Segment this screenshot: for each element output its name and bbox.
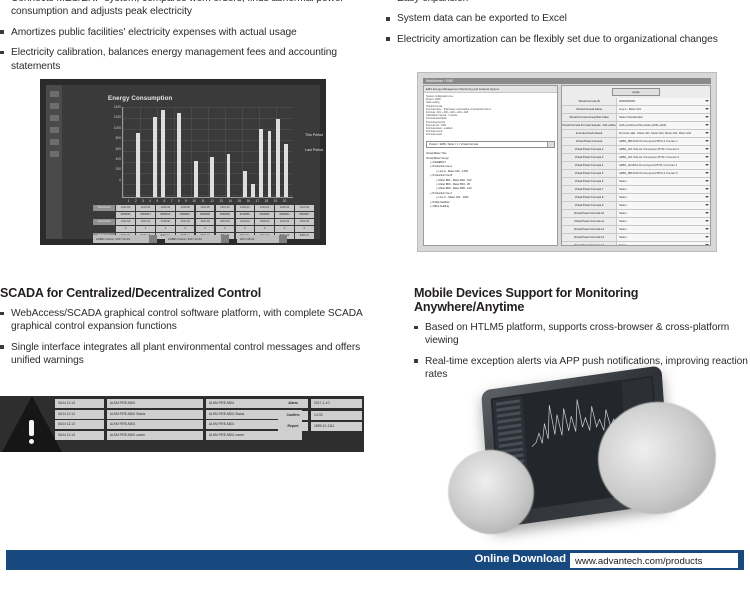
- chevron-down-icon[interactable]: [149, 235, 157, 243]
- list-item: Amortizes public facilities' electricity…: [0, 26, 375, 39]
- table-cell: 8888826: [156, 212, 174, 218]
- status-badge: Report: [278, 422, 308, 431]
- form-label: Virtual Formula Formula Sample : A01+A02…: [562, 122, 617, 129]
- scada-alarm-screenshot: 04/14 12:13ALKM FIRE AB01ALKM FIRE AB010…: [0, 396, 364, 452]
- chart-bar: [210, 157, 214, 197]
- table-cell: 1215.00: [216, 205, 234, 211]
- chevron-down-icon[interactable]: [705, 108, 709, 110]
- chevron-down-icon[interactable]: [705, 244, 709, 246]
- config-subbar: EMS Energy Management Monitoring and Ana…: [424, 86, 557, 93]
- form-label: Virtual Power Formula: [562, 138, 617, 145]
- status-row: Alarm2017-1-10: [278, 399, 362, 408]
- form-value[interactable]: AMB1_MB 0100-04 Compound BT/0-4 Counter …: [617, 138, 710, 145]
- bullet-text: Easy expansion: [397, 0, 468, 4]
- bullet-text: Electricity calibration, balances energy…: [11, 47, 337, 71]
- table-cell: 04/14 12:13: [55, 410, 104, 419]
- form-value[interactable]: (A01)+(A02)+(A03)+(A04)+(A05)+(A06): [617, 122, 710, 129]
- table-cell: ALKM FIRE AB01 Status: [107, 410, 203, 419]
- x-tick: 3: [139, 199, 146, 203]
- table-cell: 1218.00: [176, 205, 194, 211]
- form-value[interactable]: Select: [617, 178, 710, 185]
- form-row: Virtual Power Formula 6Select: [562, 178, 710, 186]
- form-label: Virtual Power Formula 6: [562, 178, 617, 185]
- table-cell: 0: [196, 226, 214, 232]
- config-left-panel: EMS Energy Management Monitoring and Ana…: [423, 85, 558, 246]
- y-tick: 1200: [106, 115, 121, 125]
- table-row-header: This Period: [93, 205, 115, 211]
- table-cell: 1212.00: [116, 205, 134, 211]
- table-cell: 1236.00: [236, 205, 254, 211]
- status-row: Report1899-12-1111: [278, 422, 362, 431]
- table-cell: 0: [236, 226, 254, 232]
- chart-bar: [153, 117, 157, 197]
- table-cell: 1218.00: [275, 205, 293, 211]
- apply-button[interactable]: Apply: [612, 88, 660, 96]
- form-value[interactable]: Formula valid - Meter A01, Meter A02, Me…: [617, 130, 710, 137]
- chart-legend: This Period Last Period: [305, 132, 326, 162]
- list-item: System data can be exported to Excel: [386, 12, 750, 25]
- table-cell: 0: [295, 226, 313, 232]
- bullet-square-icon: [414, 326, 418, 330]
- form-row: Virtual Power Formula 9Select: [562, 202, 710, 210]
- table-cell: 1024.00: [236, 219, 254, 225]
- chart-bar: [251, 184, 255, 198]
- form-value[interactable]: Select Classification: [617, 114, 710, 121]
- table-cell: 8888884: [136, 212, 154, 218]
- bullet-square-icon: [386, 17, 390, 21]
- y-tick: 1000: [106, 126, 121, 136]
- form-value[interactable]: Line A - Meter A01: [617, 106, 710, 113]
- top-right-bullet-list: Easy expansion System data can be export…: [386, 0, 750, 46]
- chart-bar: [284, 144, 288, 197]
- table-row: 04/14 12:13ALKM FIRE AB01ALKM FIRE AB01: [55, 399, 305, 408]
- table-cell: 0: [275, 226, 293, 232]
- form-value[interactable]: Select: [617, 202, 710, 209]
- chart-bar: [259, 129, 263, 197]
- bullet-text: Single interface integrates all plant en…: [11, 342, 360, 366]
- bullet-text: Electricity amortization can be flexibly…: [397, 34, 718, 45]
- table-cell: 1012.10: [136, 219, 154, 225]
- table-cell: 0: [176, 226, 194, 232]
- chart-plot-area: [122, 107, 293, 198]
- config-titlebar: WebAccess + EMS: [423, 78, 711, 84]
- chart-bar: [136, 133, 140, 197]
- form-row: Virtual Formula Formula Sample : A01+A02…: [562, 122, 710, 130]
- chevron-down-icon[interactable]: [705, 236, 709, 238]
- alarm-table: 04/14 12:13ALKM FIRE AB01ALKM FIRE AB010…: [55, 399, 305, 441]
- x-tick: 1: [125, 199, 132, 203]
- mobile-heading: Mobile Devices Support for Monitoring An…: [414, 286, 750, 314]
- form-label: Virtual Power Formula 2: [562, 146, 617, 153]
- x-tick: 4: [147, 199, 154, 203]
- form-row: Virtual Formula Group/Sub-ClassSelect Cl…: [562, 114, 710, 122]
- form-row: Virtual Power Formula 4AMB1_LD/0016-04 C…: [562, 162, 710, 170]
- top-right-column: Easy expansion System data can be export…: [386, 0, 750, 53]
- table-cell: 0: [216, 226, 234, 232]
- form-label: Virtual Power Formula 3: [562, 154, 617, 161]
- status-value: 1899-12-1111: [311, 422, 362, 431]
- form-value[interactable]: AMB1_MB 0100-04 Compound BT/0-4 Counter …: [617, 170, 710, 177]
- selector-value: 2017-08-04: [240, 237, 254, 241]
- exclamation-dot-icon: [29, 439, 34, 444]
- x-tick: 20: [280, 199, 289, 203]
- date-selector[interactable]: 2017-08-04: [237, 235, 287, 243]
- sidebar-icon[interactable]: [50, 115, 59, 121]
- form-label: Formula Check Result: [562, 130, 617, 137]
- table-cell: 1018.00: [156, 219, 174, 225]
- form-value[interactable]: 00000000001: [617, 98, 710, 105]
- legend-entry: Last Period: [305, 147, 326, 153]
- table-cell: 4: [156, 226, 174, 232]
- sidebar-icon[interactable]: [50, 139, 59, 145]
- form-label: Virtual Power Formula 5: [562, 170, 617, 177]
- table-row: Last Period1012.001012.101018.001011.001…: [93, 219, 315, 225]
- ems-window-frame: Energy Consumption 1400 1200 1000 800 60…: [40, 79, 326, 245]
- form-value[interactable]: AMB1_A01 Sub-Air Compressor BT/0-4 Count…: [617, 154, 710, 161]
- form-label: Virtual Power Formula 13: [562, 234, 617, 241]
- chart-bars: [123, 107, 293, 197]
- bullet-text: Connects MES/ERP system, compares work o…: [11, 0, 344, 17]
- table-row-header: Last Period: [93, 219, 115, 225]
- table-cell: 8888880: [216, 212, 234, 218]
- form-label: Virtual Power Formula 4: [562, 162, 617, 169]
- download-url[interactable]: www.advantech.com/products: [570, 553, 738, 568]
- table-cell: 8888886: [196, 212, 214, 218]
- ems-energy-consumption-screenshot: Energy Consumption 1400 1200 1000 800 60…: [40, 79, 326, 245]
- chevron-down-icon[interactable]: [705, 204, 709, 206]
- form-row: Virtual Power Formula 3AMB1_A01 Sub-Air …: [562, 154, 710, 162]
- form-row: Formula Check ResultFormula valid - Mete…: [562, 130, 710, 138]
- form-row: Virtual Power Formula 11Select: [562, 218, 710, 226]
- form-row: Virtual Power Formula 12Select: [562, 226, 710, 234]
- form-row: Virtual Formula ID00000000001: [562, 98, 710, 106]
- x-tick: 2: [132, 199, 139, 203]
- form-row: Virtual Power Formula 7Select: [562, 186, 710, 194]
- status-badge: Alarm: [278, 399, 308, 408]
- chevron-down-icon[interactable]: [705, 148, 709, 150]
- table-cell: 1210.00: [295, 205, 313, 211]
- chart-title: Energy Consumption: [108, 95, 172, 102]
- y-tick: 800: [106, 136, 121, 146]
- table-row: This Period1212.001214.001246.001218.001…: [93, 205, 315, 211]
- table-cell: 8888880: [116, 212, 134, 218]
- list-item: Electricity amortization can be flexibly…: [386, 33, 750, 46]
- y-tick: 1400: [106, 105, 121, 115]
- table-cell: ALKM FIRE AB01 comm: [107, 431, 203, 440]
- chevron-down-icon[interactable]: [705, 164, 709, 166]
- legend-entry: This Period: [305, 132, 326, 138]
- x-tick: 13: [216, 199, 225, 203]
- y-tick: 0: [106, 178, 121, 188]
- bullet-square-icon: [0, 345, 4, 349]
- y-tick: 200: [106, 167, 121, 177]
- dropdown-value: Project = EMS / Node = 1 / Virtual Formu…: [429, 143, 478, 146]
- selector-value: AAB01 Factory 2017-01-04: [168, 237, 202, 241]
- list-item: Connects MES/ERP system, compares work o…: [0, 0, 375, 19]
- form-label: Virtual Power Formula 7: [562, 186, 617, 193]
- table-cell: 1012.00: [275, 219, 293, 225]
- sidebar-icon[interactable]: [50, 127, 59, 133]
- form-value[interactable]: AMB1_A01 Sub-Air Compressor BT/0-4 Count…: [617, 146, 710, 153]
- form-row: Virtual Power FormulaAMB1_MB 0100-04 Com…: [562, 138, 710, 146]
- chevron-down-icon[interactable]: [547, 142, 554, 148]
- exclamation-bar-icon: [29, 420, 34, 436]
- table-cell: 8888882: [275, 212, 293, 218]
- form-row: Virtual Power Formula 14Select: [562, 242, 710, 246]
- x-tick: 12: [207, 199, 216, 203]
- chart-bar: [276, 119, 280, 197]
- table-cell: 04/14 12:13: [55, 431, 104, 440]
- x-tick: 8: [175, 199, 182, 203]
- x-tick: 5: [154, 199, 161, 203]
- chevron-down-icon[interactable]: [705, 140, 709, 142]
- x-tick: 16: [244, 199, 253, 203]
- y-tick: 400: [106, 157, 121, 167]
- table-cell: 1210.00: [196, 205, 214, 211]
- log-line: Formula export: [426, 133, 555, 136]
- list-item: Easy expansion: [386, 0, 750, 5]
- form-value[interactable]: AMB1_LD/0016-04 Compound BT/0-4 Counter …: [617, 162, 710, 169]
- sidebar-icon[interactable]: [50, 151, 59, 157]
- table-cell: 1011.00: [176, 219, 194, 225]
- table-cell: 8888880: [255, 212, 273, 218]
- form-value[interactable]: Select: [617, 186, 710, 193]
- chevron-down-icon[interactable]: [705, 220, 709, 222]
- form-value[interactable]: Select: [617, 234, 710, 241]
- form-row: Virtual Power Formula 13Select: [562, 234, 710, 242]
- scada-section: SCADA for Centralized/Decentralized Cont…: [0, 286, 375, 375]
- chevron-down-icon[interactable]: [705, 228, 709, 230]
- chevron-down-icon[interactable]: [705, 124, 709, 126]
- x-tick: 9: [182, 199, 189, 203]
- chevron-down-icon[interactable]: [705, 172, 709, 174]
- sidebar-icon[interactable]: [50, 103, 59, 109]
- x-tick: 6: [161, 199, 168, 203]
- x-tick: 7: [168, 199, 175, 203]
- table-cell: 1018.00: [255, 219, 273, 225]
- bullet-text: System data can be exported to Excel: [397, 13, 567, 24]
- form-value[interactable]: Select: [617, 194, 710, 201]
- table-row: 04/14 12:13ALKM FIRE AB01 commALKM FIRE …: [55, 431, 305, 440]
- form-value[interactable]: Select: [617, 210, 710, 217]
- form-value[interactable]: Select: [617, 218, 710, 225]
- table-cell: ALKM FIRE AB01: [107, 420, 203, 429]
- table-cell: 1012.00: [196, 219, 214, 225]
- table-cell: 1246.00: [156, 205, 174, 211]
- top-left-column: Connects MES/ERP system, compares work o…: [0, 0, 375, 80]
- bullet-text: Amortizes public facilities' electricity…: [11, 27, 297, 38]
- chevron-down-icon[interactable]: [705, 180, 709, 182]
- chevron-down-icon[interactable]: [221, 235, 229, 243]
- form-row: Virtual Power Formula 5AMB1_MB 0100-04 C…: [562, 170, 710, 178]
- ems-sidebar[interactable]: [46, 85, 62, 239]
- table-cell: ALKM FIRE AB01: [107, 399, 203, 408]
- footer-bar: Online Download www.advantech.com/produc…: [6, 550, 744, 570]
- chevron-down-icon[interactable]: [705, 100, 709, 102]
- config-form: Virtual Formula ID00000000001Virtual For…: [562, 98, 710, 246]
- ems-body: Energy Consumption 1400 1200 1000 800 60…: [62, 85, 320, 239]
- chart-bar: [161, 110, 165, 197]
- form-row: Virtual Power Formula 8Select: [562, 194, 710, 202]
- table-cell: 2: [136, 226, 154, 232]
- form-label: Virtual Formula Group/Sub-Class: [562, 114, 617, 121]
- status-badge: Confirm: [278, 411, 308, 420]
- chart-x-axis: 1234567891011121314151617181920: [122, 199, 292, 203]
- table-cell: 8888887: [295, 212, 313, 218]
- chevron-down-icon[interactable]: [279, 235, 287, 243]
- status-value: 2017-1-10: [311, 399, 362, 408]
- chevron-down-icon[interactable]: [705, 132, 709, 134]
- top-left-bullet-list: Connects MES/ERP system, compares work o…: [0, 0, 375, 73]
- config-log-area: System configuration treeProject : EMSNo…: [424, 93, 557, 139]
- chevron-down-icon[interactable]: [705, 156, 709, 158]
- form-label: Virtual Power Formula 8: [562, 194, 617, 201]
- table-cell: 1012.00: [295, 219, 313, 225]
- table-cell: 1012.00: [116, 219, 134, 225]
- form-row: Virtual Power Formula 10Select: [562, 210, 710, 218]
- table-row: 8888880888888488888268888887888888688888…: [93, 212, 315, 218]
- form-label: Virtual Power Formula 10: [562, 210, 617, 217]
- y-tick: 600: [106, 147, 121, 157]
- chart-y-axis: 1400 1200 1000 800 600 400 200 0: [106, 105, 121, 199]
- legend-label: Last Period: [305, 148, 326, 152]
- scada-heading: SCADA for Centralized/Decentralized Cont…: [0, 286, 375, 300]
- table-cell: 1224.00: [255, 205, 273, 211]
- form-label: Virtual Power Formula 14: [562, 242, 617, 246]
- chevron-down-icon[interactable]: [705, 116, 709, 118]
- config-scope-dropdown[interactable]: Project = EMS / Node = 1 / Virtual Formu…: [426, 141, 555, 149]
- table-row: 04/14 12:13ALKM FIRE AB01 StatusALKM FIR…: [55, 410, 305, 419]
- table-row: 0240000000: [93, 226, 315, 232]
- x-tick: 19: [271, 199, 280, 203]
- table-cell: 8268886: [236, 212, 254, 218]
- factory-selector-1[interactable]: AAB01 Factory 2017-01-04: [93, 235, 157, 243]
- tablet-photo: [430, 372, 740, 542]
- table-cell: 1214.00: [136, 205, 154, 211]
- status-value: 14:33: [311, 411, 362, 420]
- form-label: Virtual Power Formula 11: [562, 218, 617, 225]
- scada-bullet-list: WebAccess/SCADA graphical control softwa…: [0, 307, 375, 368]
- factory-selector-2[interactable]: AAB01 Factory 2017-01-04: [165, 235, 229, 243]
- x-tick: 17: [253, 199, 262, 203]
- config-tree[interactable]: Virtual Meter TreeVirtual Meter Group├ C…: [424, 150, 557, 211]
- chart-bar: [177, 113, 181, 197]
- bullet-square-icon: [414, 359, 418, 363]
- form-label: Virtual Power Formula 9: [562, 202, 617, 209]
- table-cell: 8888887: [176, 212, 194, 218]
- online-download-label: Online Download: [474, 553, 566, 565]
- legend-label: This Period: [305, 133, 326, 137]
- table-cell: 0: [255, 226, 273, 232]
- table-row: 04/14 12:13ALKM FIRE AB01ALKM FIRE AB01: [55, 420, 305, 429]
- x-tick: 10: [190, 199, 199, 203]
- chevron-down-icon[interactable]: [705, 188, 709, 190]
- form-label: Virtual Formula Name: [562, 106, 617, 113]
- chart-bar: [227, 154, 231, 197]
- form-label: Virtual Power Formula 12: [562, 226, 617, 233]
- table-cell: 04/14 12:13: [55, 399, 104, 408]
- chart-bar: [268, 131, 272, 197]
- bullet-square-icon: [0, 312, 4, 316]
- bullet-square-icon: [386, 37, 390, 41]
- form-row: Virtual Formula NameLine A - Meter A01: [562, 106, 710, 114]
- tree-item[interactable]: ├ Office building: [426, 205, 555, 209]
- x-tick: 15: [235, 199, 244, 203]
- alarm-status-panel: Alarm2017-1-10Confirm14:33Report1899-12-…: [278, 399, 362, 434]
- list-item: Based on HTLM5 platform, supports cross-…: [414, 321, 750, 348]
- list-item: Electricity calibration, balances energy…: [0, 46, 375, 73]
- table-cell: 04/14 12:13: [55, 420, 104, 429]
- bullet-square-icon: [0, 30, 4, 34]
- chevron-down-icon[interactable]: [705, 212, 709, 214]
- form-row: Virtual Power Formula 2AMB1_A01 Sub-Air …: [562, 146, 710, 154]
- status-row: Confirm14:33: [278, 411, 362, 420]
- x-tick: 18: [262, 199, 271, 203]
- table-cell: 0: [116, 226, 134, 232]
- form-value[interactable]: Select: [617, 242, 710, 246]
- sidebar-icon[interactable]: [50, 91, 59, 97]
- list-item: WebAccess/SCADA graphical control softwa…: [0, 307, 375, 334]
- x-tick: 11: [199, 199, 208, 203]
- selector-value: AAB01 Factory 2017-01-04: [96, 237, 130, 241]
- config-right-panel: Apply Virtual Formula ID00000000001Virtu…: [561, 85, 711, 246]
- chart-bar: [243, 171, 247, 197]
- chevron-down-icon[interactable]: [705, 196, 709, 198]
- form-value[interactable]: Select: [617, 226, 710, 233]
- table-cell: 1013.00: [216, 219, 234, 225]
- chart-bar: [194, 161, 198, 197]
- bullet-text: WebAccess/SCADA graphical control softwa…: [11, 308, 362, 332]
- bullet-text: Based on HTLM5 platform, supports cross-…: [425, 322, 729, 346]
- list-item: Single interface integrates all plant en…: [0, 341, 375, 368]
- x-tick: 14: [226, 199, 235, 203]
- form-label: Virtual Formula ID: [562, 98, 617, 105]
- webaccess-ems-config-screenshot: WebAccess + EMS EMS Energy Management Mo…: [417, 72, 717, 252]
- bullet-square-icon: [0, 51, 4, 55]
- ems-selector-row: AAB01 Factory 2017-01-04 AAB01 Factory 2…: [93, 235, 323, 243]
